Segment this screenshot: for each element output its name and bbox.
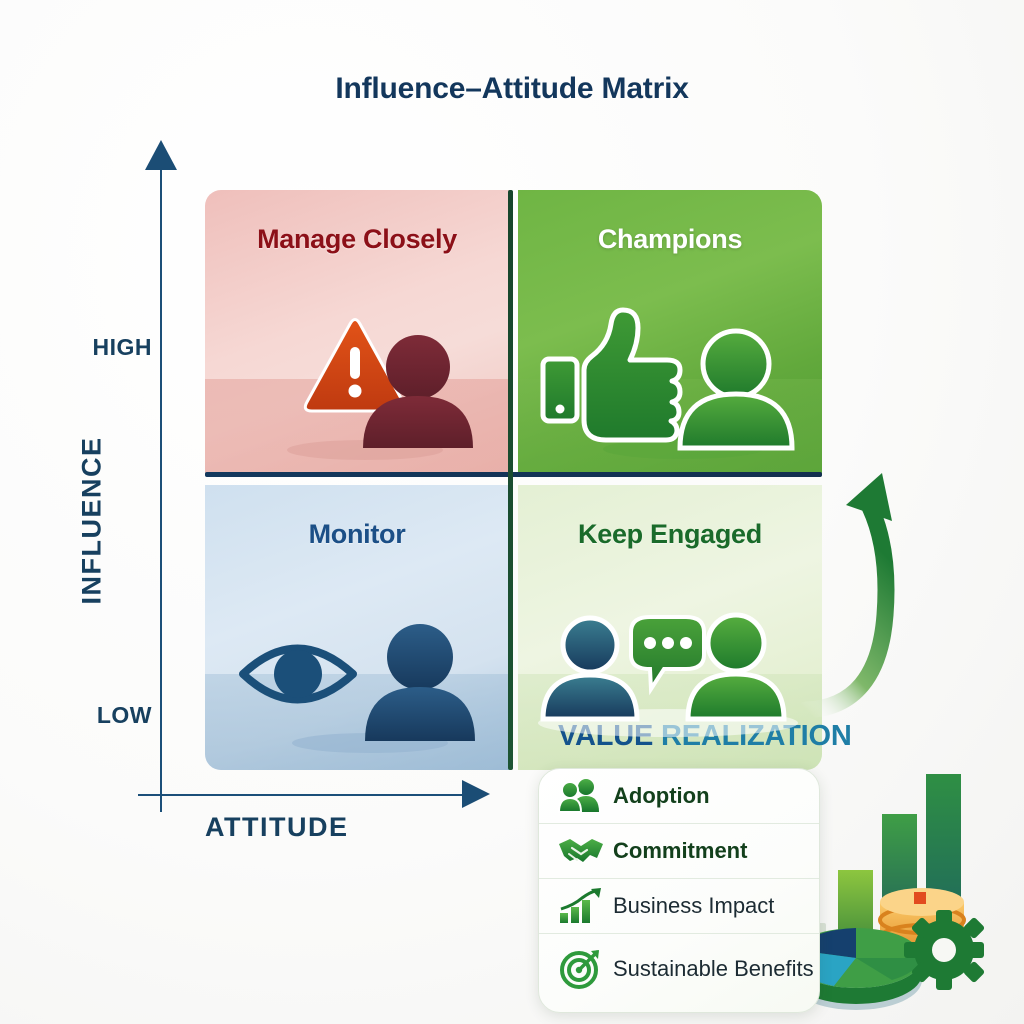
- y-axis-line: [160, 162, 162, 812]
- quadrant-keep-engaged[interactable]: Keep Engaged: [518, 485, 822, 770]
- y-axis-label: INFLUENCE: [77, 391, 108, 651]
- target-icon: [553, 948, 609, 990]
- thumbs-up-icon: [543, 310, 680, 440]
- quadrant-manage-closely[interactable]: Manage Closely: [205, 190, 509, 475]
- quadrant-label-keep-engaged: Keep Engaged: [518, 519, 822, 550]
- matrix-horizontal-divider: [205, 472, 822, 477]
- y-axis-high-label: HIGH: [60, 334, 152, 361]
- value-realization-card: Adoption Commitment Business Impact: [538, 768, 820, 1013]
- handshake-icon: [553, 834, 609, 868]
- x-axis-arrow-icon: [462, 780, 490, 808]
- quadrant-label-champions: Champions: [518, 224, 822, 255]
- y-axis-low-label: LOW: [60, 702, 152, 729]
- eye-icon: [243, 649, 353, 700]
- growth-chart-icon: [553, 888, 609, 924]
- person-icon: [543, 618, 637, 719]
- upward-curved-arrow-icon: [800, 455, 940, 725]
- x-axis-label: ATTITUDE: [205, 812, 348, 843]
- value-item-business-impact[interactable]: Business Impact: [539, 879, 819, 934]
- value-item-adoption[interactable]: Adoption: [539, 769, 819, 824]
- value-item-label: Sustainable Benefits: [609, 957, 814, 982]
- champions-artwork: [518, 252, 822, 475]
- influence-attitude-matrix: Manage Closely Cham: [205, 190, 822, 770]
- speech-bubble-icon: [631, 617, 704, 689]
- value-item-label: Commitment: [609, 839, 747, 864]
- person-icon: [680, 331, 792, 448]
- page-title: Influence–Attitude Matrix: [0, 72, 1024, 106]
- keep-engaged-artwork: [518, 547, 822, 770]
- monitor-artwork: [205, 547, 509, 770]
- quadrant-monitor[interactable]: Monitor: [205, 485, 509, 770]
- x-axis-line: [138, 794, 468, 796]
- person-icon: [365, 624, 475, 741]
- value-item-label: Business Impact: [609, 894, 774, 919]
- y-axis-arrow-icon: [145, 140, 177, 170]
- manage-closely-artwork: [205, 252, 509, 475]
- value-item-commitment[interactable]: Commitment: [539, 824, 819, 879]
- value-item-sustainable-benefits[interactable]: Sustainable Benefits: [539, 934, 819, 1004]
- quadrant-label-monitor: Monitor: [205, 519, 509, 550]
- matrix-vertical-divider: [508, 190, 513, 770]
- two-people-icon: [553, 778, 609, 814]
- quadrant-champions[interactable]: Champions: [518, 190, 822, 475]
- quadrant-label-manage-closely: Manage Closely: [205, 224, 509, 255]
- value-item-label: Adoption: [609, 784, 710, 809]
